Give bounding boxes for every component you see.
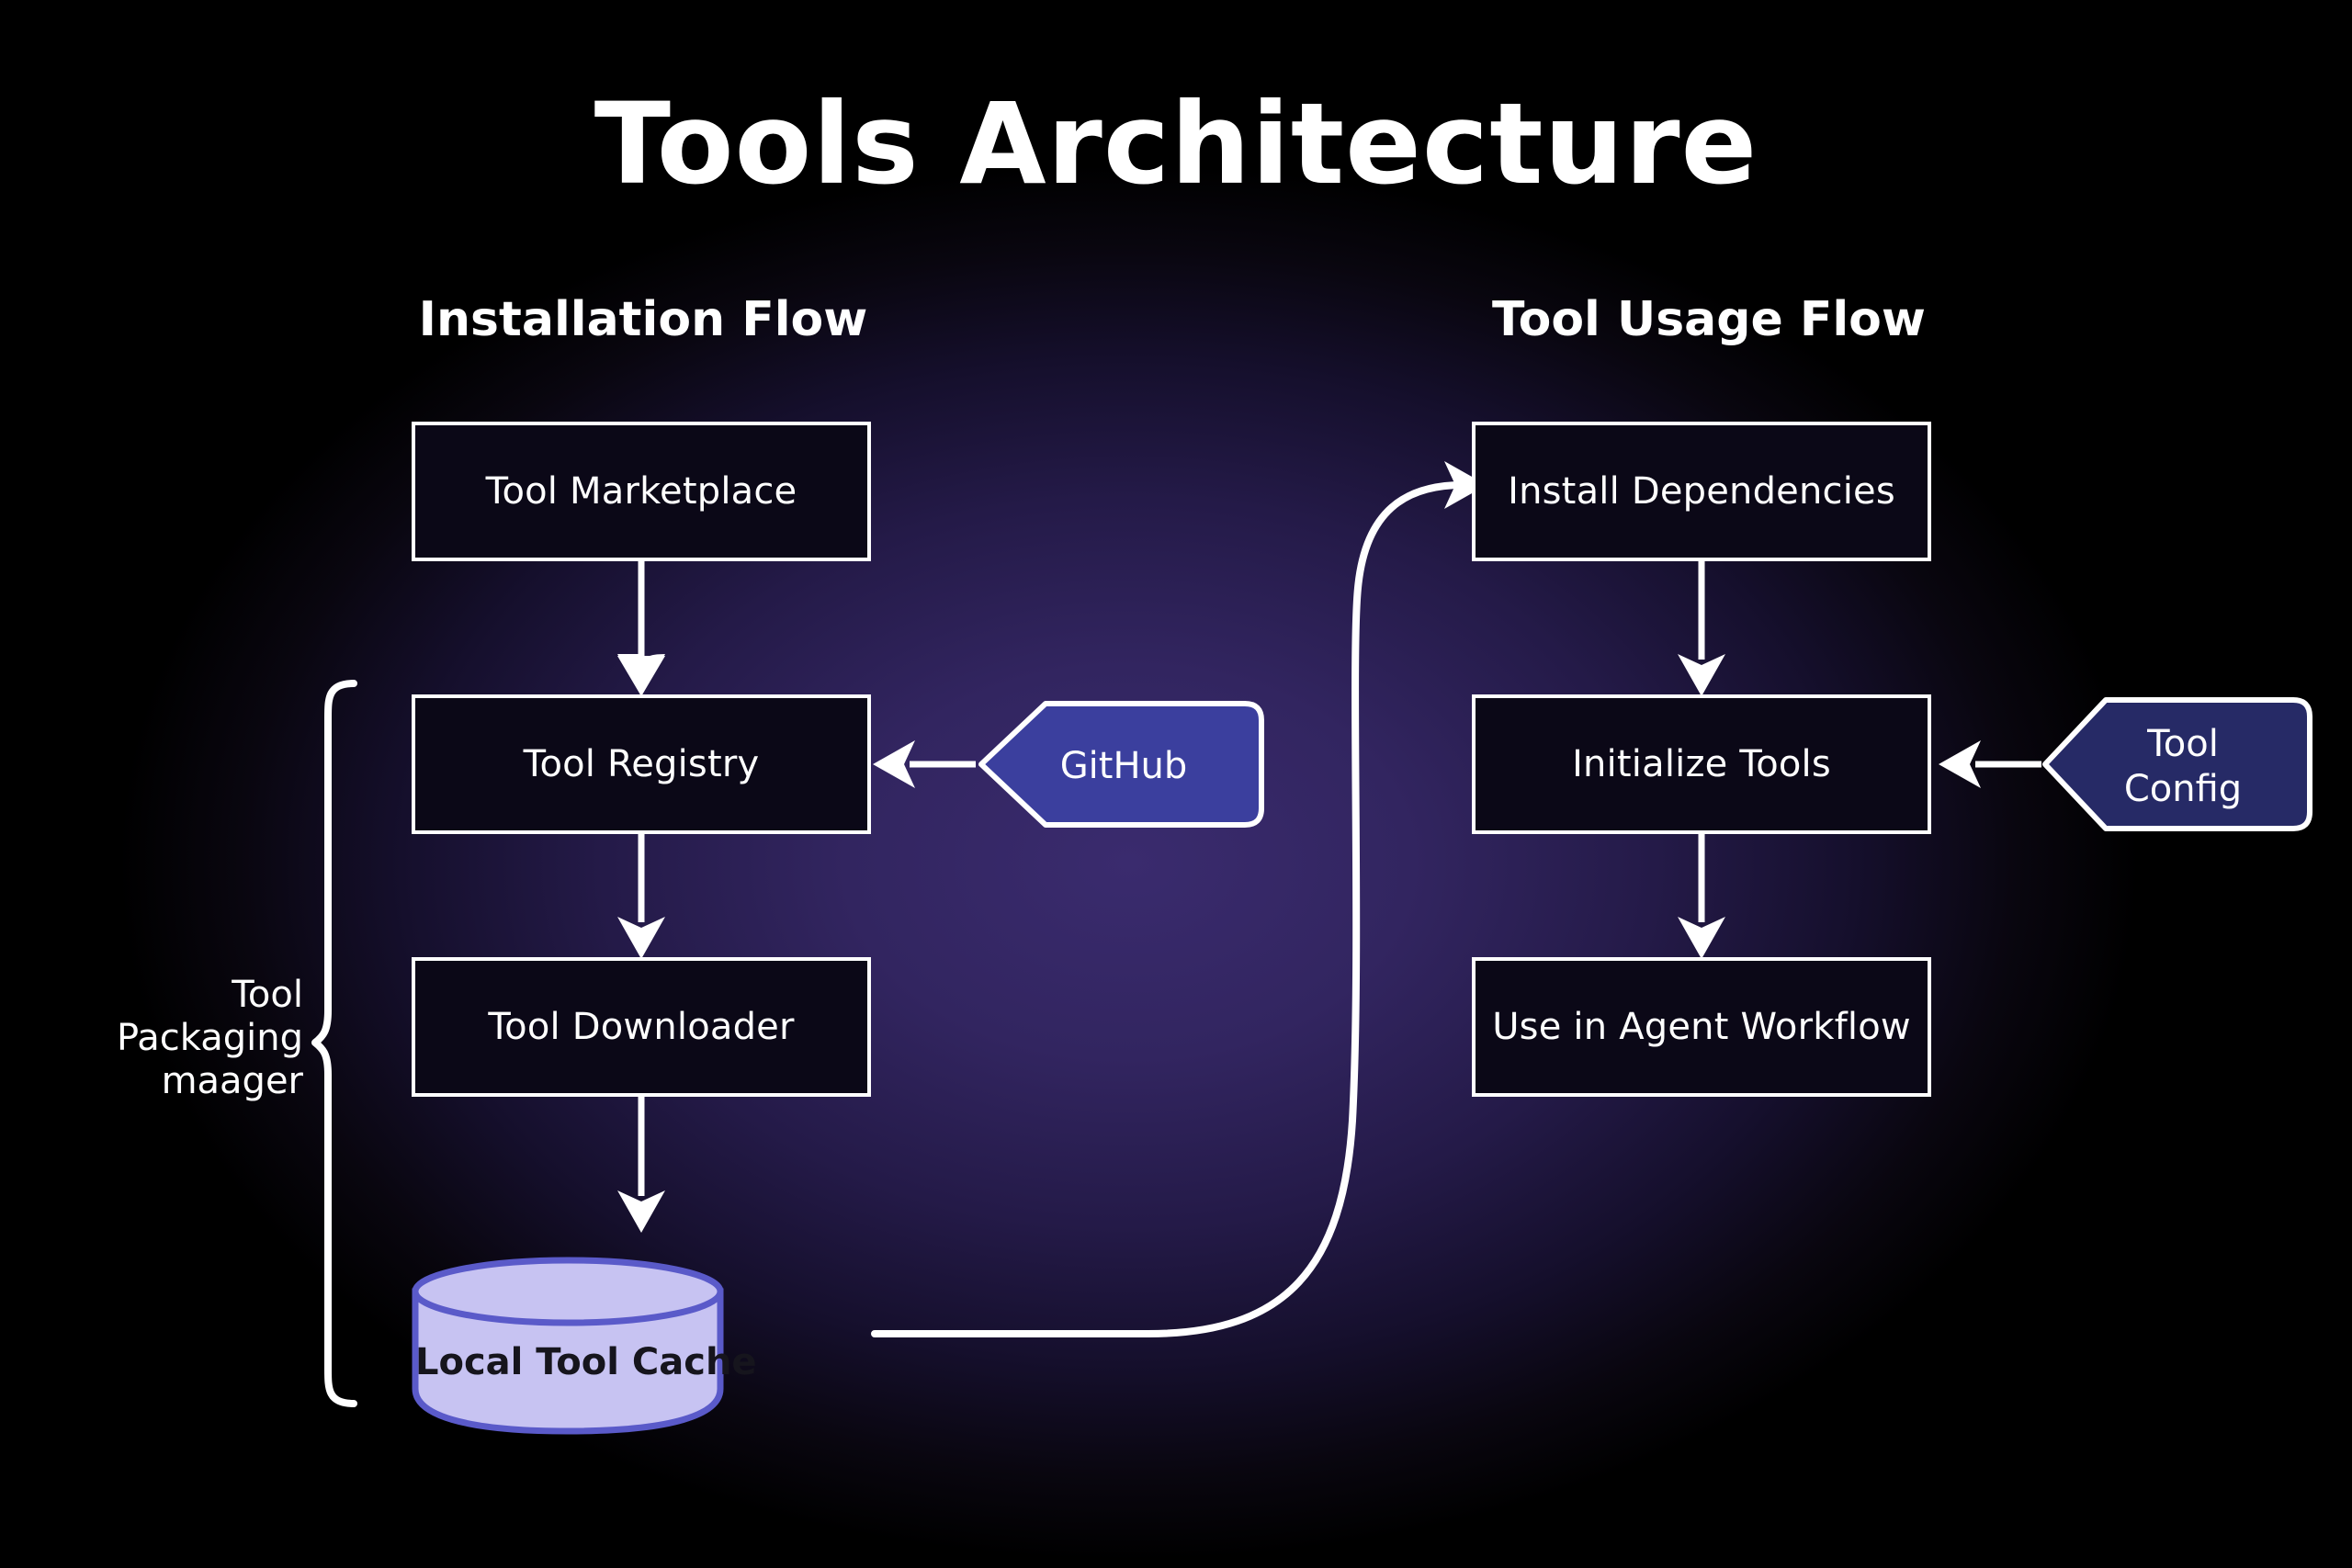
edge-toolconfig-to-initialize	[1939, 740, 2041, 788]
node-install-dependencies-label: Install Dependencies	[1508, 470, 1895, 513]
node-tool-downloader-label: Tool Downloader	[488, 1006, 794, 1048]
group-label-tool-packaging-manager: Tool Packaging maager	[73, 974, 303, 1104]
node-tool-marketplace[interactable]: Tool Marketplace	[412, 422, 871, 561]
edge-marketplace-to-registry	[617, 561, 665, 696]
node-initialize-tools-label: Initialize Tools	[1572, 743, 1831, 785]
page-title: Tools Architecture	[0, 79, 2352, 209]
diagram-canvas: Tools Architecture Installation Flow Too…	[0, 0, 2352, 1568]
node-tool-registry-label: Tool Registry	[524, 743, 760, 785]
edge-registry-to-downloader	[617, 832, 665, 959]
section-heading-installation-flow: Installation Flow	[276, 292, 1011, 347]
node-github-label[interactable]: GitHub	[1000, 744, 1248, 789]
edge-install-to-initialize	[1678, 561, 1725, 696]
edge-github-to-registry	[873, 740, 976, 788]
section-heading-tool-usage-flow: Tool Usage Flow	[1341, 292, 2076, 347]
node-use-in-agent-workflow[interactable]: Use in Agent Workflow	[1472, 957, 1931, 1097]
node-tool-marketplace-label: Tool Marketplace	[486, 470, 797, 513]
node-tool-config-label[interactable]: Tool Config	[2073, 722, 2293, 812]
node-initialize-tools[interactable]: Initialize Tools	[1472, 694, 1931, 834]
node-tool-downloader[interactable]: Tool Downloader	[412, 957, 871, 1097]
edge-cache-to-install-dependencies	[875, 461, 1487, 1334]
node-local-tool-cache-label[interactable]: Local Tool Cache	[415, 1341, 720, 1383]
node-tool-registry[interactable]: Tool Registry	[412, 694, 871, 834]
edge-downloader-to-cache	[617, 1095, 665, 1233]
group-brace	[315, 683, 354, 1404]
node-install-dependencies[interactable]: Install Dependencies	[1472, 422, 1931, 561]
node-use-in-agent-workflow-label: Use in Agent Workflow	[1492, 1006, 1911, 1048]
edge-initialize-to-workflow	[1678, 832, 1725, 959]
